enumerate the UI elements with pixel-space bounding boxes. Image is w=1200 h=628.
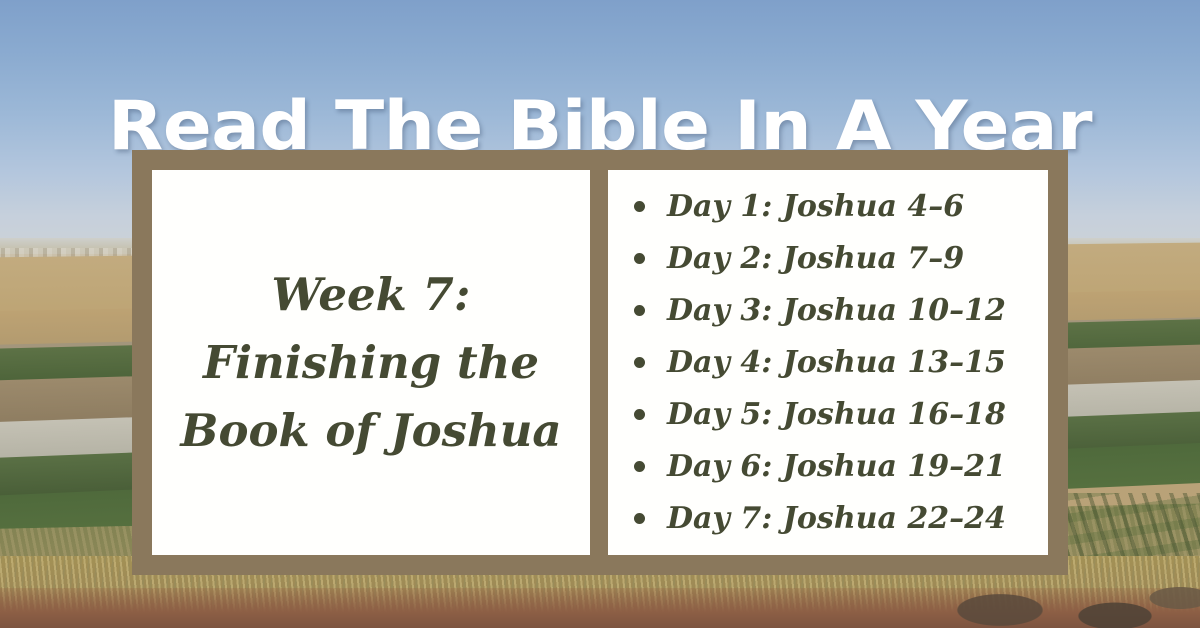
list-item: Day 5: Joshua 16–18 [634, 389, 1048, 441]
bullet-icon [634, 513, 645, 524]
poster-canvas: Read The Bible In A Year Week 7: Finishi… [0, 0, 1200, 628]
bullet-icon [634, 253, 645, 264]
bullet-icon [634, 305, 645, 316]
bullet-icon [634, 461, 645, 472]
list-item-label: Day 7: Joshua 22–24 [667, 493, 1006, 545]
list-item: Day 1: Joshua 4–6 [634, 181, 1048, 233]
list-item: Day 4: Joshua 13–15 [634, 337, 1048, 389]
week-title: Week 7: Finishing the Book of Joshua [152, 261, 590, 465]
daily-readings-panel: Day 1: Joshua 4–6 Day 2: Joshua 7–9 Day … [608, 170, 1048, 555]
reading-plan-card: Week 7: Finishing the Book of Joshua Day… [132, 150, 1068, 575]
list-item-label: Day 2: Joshua 7–9 [667, 233, 964, 285]
list-item: Day 3: Joshua 10–12 [634, 285, 1048, 337]
list-item-label: Day 5: Joshua 16–18 [667, 389, 1006, 441]
list-item: Day 7: Joshua 22–24 [634, 493, 1048, 545]
list-item-label: Day 1: Joshua 4–6 [667, 181, 964, 233]
week-title-panel: Week 7: Finishing the Book of Joshua [152, 170, 590, 555]
list-item-label: Day 6: Joshua 19–21 [667, 441, 1006, 493]
bullet-icon [634, 357, 645, 368]
list-item: Day 6: Joshua 19–21 [634, 441, 1048, 493]
list-item-label: Day 3: Joshua 10–12 [667, 285, 1006, 337]
daily-readings-list: Day 1: Joshua 4–6 Day 2: Joshua 7–9 Day … [634, 181, 1048, 545]
list-item: Day 2: Joshua 7–9 [634, 233, 1048, 285]
list-item-label: Day 4: Joshua 13–15 [667, 337, 1006, 389]
bullet-icon [634, 201, 645, 212]
bullet-icon [634, 409, 645, 420]
